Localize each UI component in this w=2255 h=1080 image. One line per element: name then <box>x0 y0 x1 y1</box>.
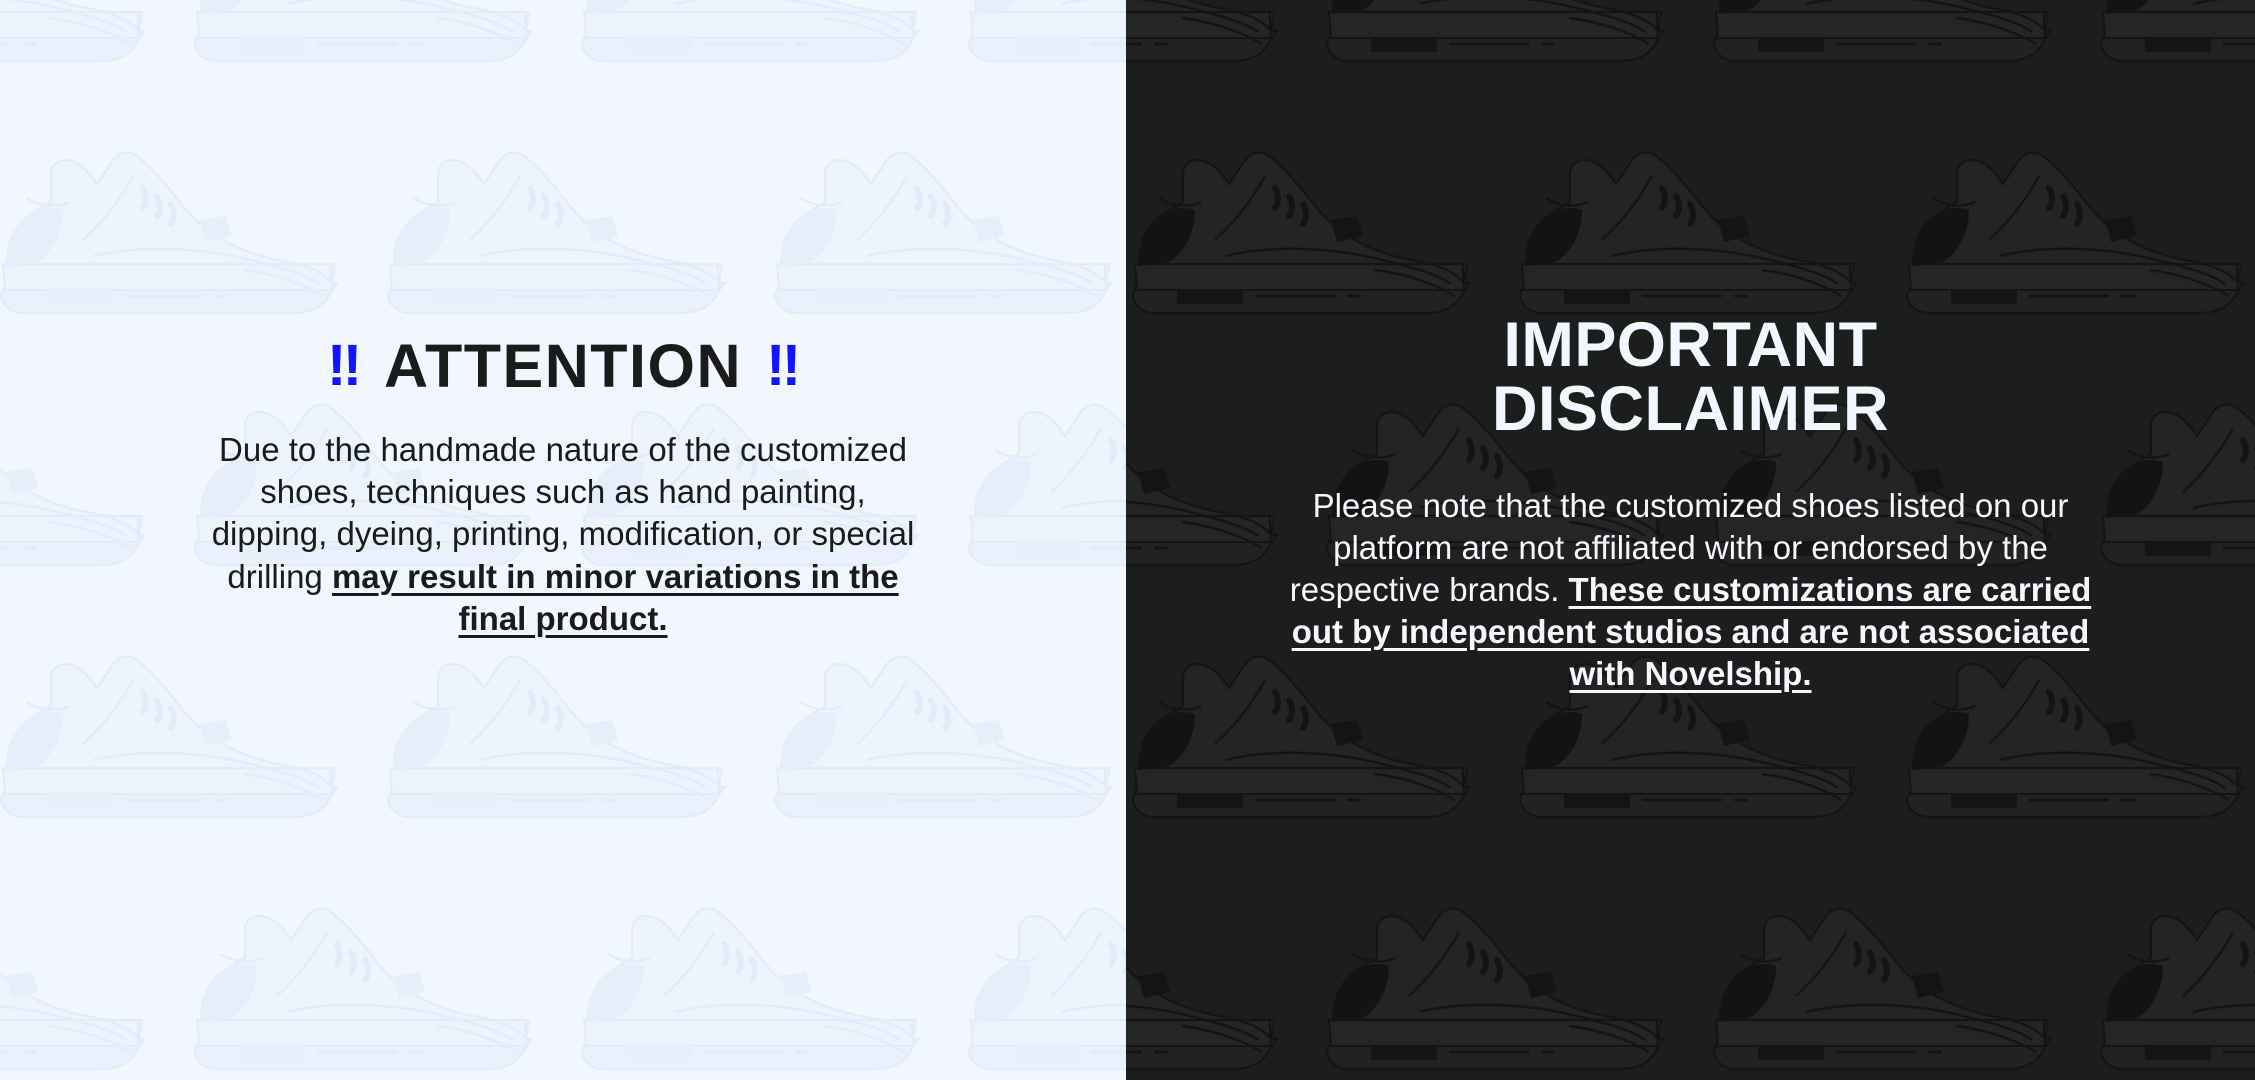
attention-body: Due to the handmade nature of the custom… <box>203 429 923 640</box>
attention-body-emphasis: may result in minor variations in the fi… <box>332 558 899 637</box>
double-exclamation-left-icon: ‼ <box>327 337 360 395</box>
double-exclamation-right-icon: ‼ <box>766 337 799 395</box>
disclaimer-panel: IMPORTANT DISCLAIMER Please note that th… <box>1126 0 2255 1080</box>
attention-panel: ‼ ATTENTION ‼ Due to the handmade nature… <box>0 0 1126 1080</box>
disclaimer-content: IMPORTANT DISCLAIMER Please note that th… <box>1126 313 2255 696</box>
attention-heading-text: ATTENTION <box>384 336 742 397</box>
notice-banner: ‼ ATTENTION ‼ Due to the handmade nature… <box>0 0 2255 1080</box>
page-title-attention: ‼ ATTENTION ‼ <box>183 336 943 397</box>
attention-content: ‼ ATTENTION ‼ Due to the handmade nature… <box>0 336 1126 640</box>
page-title-disclaimer: IMPORTANT DISCLAIMER <box>1371 313 2011 442</box>
disclaimer-body: Please note that the customized shoes li… <box>1285 485 2097 696</box>
